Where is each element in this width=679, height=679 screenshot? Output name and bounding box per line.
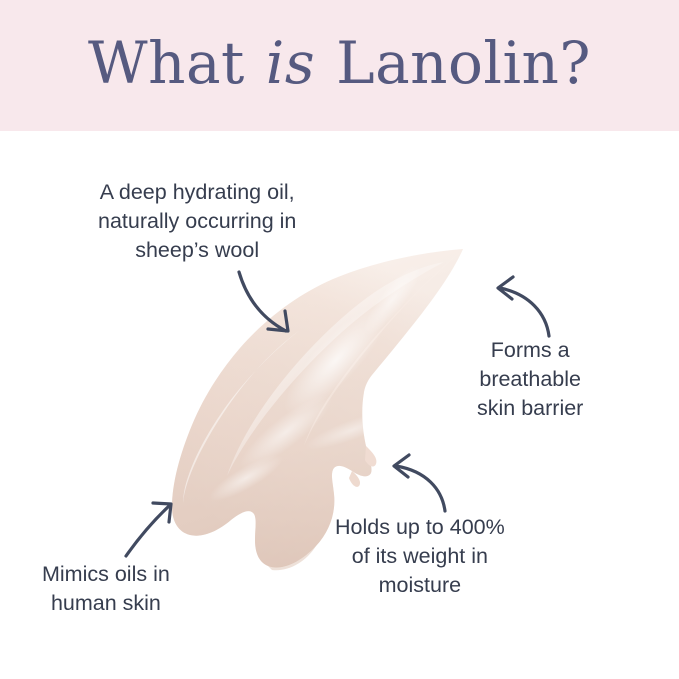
callout-line: breathable [477,365,583,394]
callout-line: naturally occurring in [98,207,296,236]
callout-line: Forms a [477,336,583,365]
callout-line: moisture [335,571,505,600]
arrow-top-left-to-swatch [239,272,288,331]
callout-line: Holds up to 400% [335,513,505,542]
arrow-bottom-to-swatch [394,455,445,511]
callout-line: of its weight in [335,542,505,571]
callout-line: A deep hydrating oil, [98,178,296,207]
arrow-right-to-swatch [498,277,549,336]
callout-line: human skin [42,589,170,618]
arrow-bottom-left-to-swatch [126,503,171,556]
callout-line: skin barrier [477,394,583,423]
callout-deep-hydrating-oil: A deep hydrating oil, naturally occurrin… [98,178,296,265]
callout-breathable-skin-barrier: Forms a breathable skin barrier [477,336,583,423]
callout-line: sheep’s wool [98,236,296,265]
callout-line: Mimics oils in [42,560,170,589]
infographic-root: What is Lanolin? [0,0,679,679]
callout-mimics-human-oils: Mimics oils in human skin [42,560,170,618]
callout-holds-moisture: Holds up to 400% of its weight in moistu… [335,513,505,600]
